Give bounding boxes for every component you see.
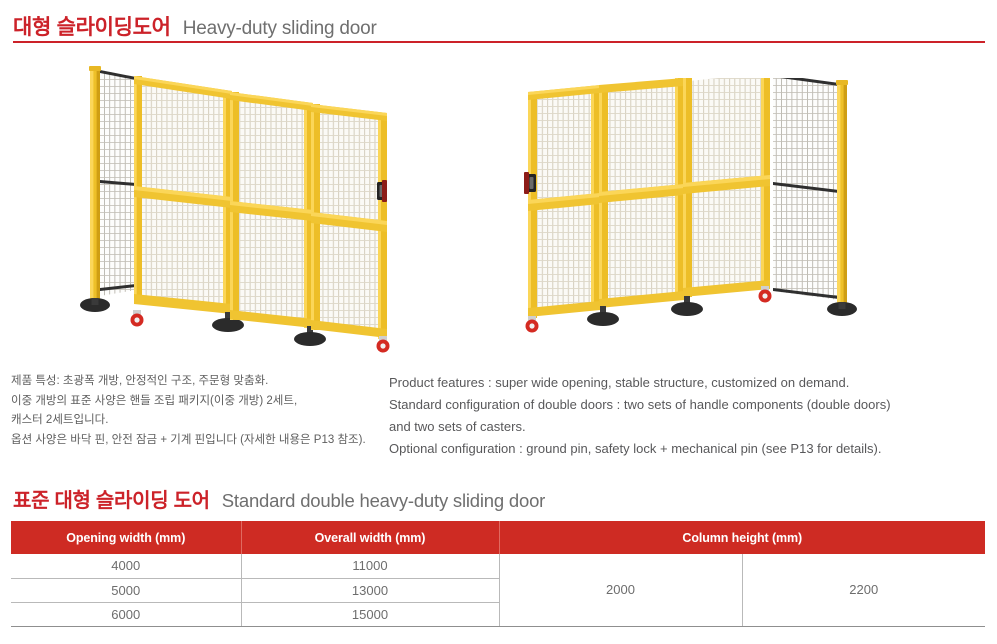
door-panel-2-right bbox=[587, 78, 684, 326]
cell-column-height-2000: 2000 bbox=[499, 554, 742, 626]
cell-overall-width: 13000 bbox=[241, 578, 499, 602]
cell-overall-width: 11000 bbox=[241, 554, 499, 578]
desc-ko-line-4: 옵션 사양은 바닥 핀, 안전 잠금 + 기계 핀입니다 (자세한 내용은 P1… bbox=[11, 431, 366, 451]
cell-opening-width: 6000 bbox=[11, 602, 241, 626]
desc-en-line-3: and two sets of casters. bbox=[389, 416, 891, 438]
product-render-left bbox=[78, 58, 418, 358]
product-image-gallery bbox=[0, 50, 997, 370]
column-header-column-height: Column height (mm) bbox=[499, 521, 985, 554]
page-title-english: Heavy-duty sliding door bbox=[183, 18, 377, 40]
table-header: Opening width (mm) Overall width (mm) Co… bbox=[11, 521, 985, 554]
table-body: 4000 11000 2000 2200 5000 13000 6000 150… bbox=[11, 554, 985, 626]
table-header-row: Opening width (mm) Overall width (mm) Co… bbox=[11, 521, 985, 554]
sliding-door-right-svg bbox=[495, 78, 900, 378]
desc-en-line-1: Product features : super wide opening, s… bbox=[389, 372, 891, 394]
description-korean: 제품 특성: 초광폭 개방, 안정적인 구조, 주문형 맞춤화. 이중 개방의 … bbox=[11, 372, 366, 450]
cell-opening-width: 5000 bbox=[11, 578, 241, 602]
cell-column-height-2200: 2200 bbox=[742, 554, 985, 626]
table-row: 4000 11000 2000 2200 bbox=[11, 554, 985, 578]
column-header-opening-width: Opening width (mm) bbox=[11, 521, 241, 554]
rear-fixed-panel-left bbox=[80, 66, 136, 312]
spec-title-korean: 표준 대형 슬라이딩 도어 bbox=[13, 484, 210, 513]
section-heading-primary: 대형 슬라이딩도어 Heavy-duty sliding door bbox=[0, 0, 997, 41]
section-heading-secondary: 표준 대형 슬라이딩 도어 Standard double heavy-duty… bbox=[0, 484, 997, 513]
door-panel-2-left bbox=[131, 76, 245, 332]
cell-overall-width: 15000 bbox=[241, 602, 499, 626]
sliding-door-left-svg bbox=[78, 58, 418, 358]
desc-en-line-2: Standard configuration of double doors :… bbox=[389, 394, 891, 416]
product-render-right bbox=[495, 78, 900, 378]
page-title-korean: 대형 슬라이딩도어 bbox=[13, 11, 171, 41]
door-panel-3-right bbox=[671, 78, 772, 316]
desc-ko-line-1: 제품 특성: 초광폭 개방, 안정적인 구조, 주문형 맞춤화. bbox=[11, 372, 366, 392]
caster-left-1 bbox=[131, 310, 144, 327]
spec-title-english: Standard double heavy-duty sliding door bbox=[222, 490, 545, 512]
desc-en-line-4: Optional configuration : ground pin, saf… bbox=[389, 438, 891, 460]
title2-row: 표준 대형 슬라이딩 도어 Standard double heavy-duty… bbox=[0, 484, 997, 513]
door-panel-4-left bbox=[311, 104, 390, 353]
description-block: 제품 특성: 초광폭 개방, 안정적인 구조, 주문형 맞춤화. 이중 개방의 … bbox=[0, 372, 997, 472]
title-row: 대형 슬라이딩도어 Heavy-duty sliding door bbox=[0, 0, 997, 41]
door-panel-1-right bbox=[524, 85, 600, 333]
door-handle-icon bbox=[377, 180, 387, 202]
caster-right-1 bbox=[526, 316, 539, 333]
door-handle-right-icon bbox=[524, 172, 536, 194]
specification-table: Opening width (mm) Overall width (mm) Co… bbox=[11, 521, 985, 627]
cell-opening-width: 4000 bbox=[11, 554, 241, 578]
title-divider-rule bbox=[13, 41, 985, 43]
rear-fixed-panel-right bbox=[773, 78, 857, 316]
desc-ko-line-2: 이중 개방의 표준 사양은 핸들 조립 패키지(이중 개방) 2세트, bbox=[11, 392, 366, 412]
desc-ko-line-3: 캐스터 2세트입니다. bbox=[11, 411, 366, 431]
description-english: Product features : super wide opening, s… bbox=[389, 372, 891, 460]
column-header-overall-width: Overall width (mm) bbox=[241, 521, 499, 554]
